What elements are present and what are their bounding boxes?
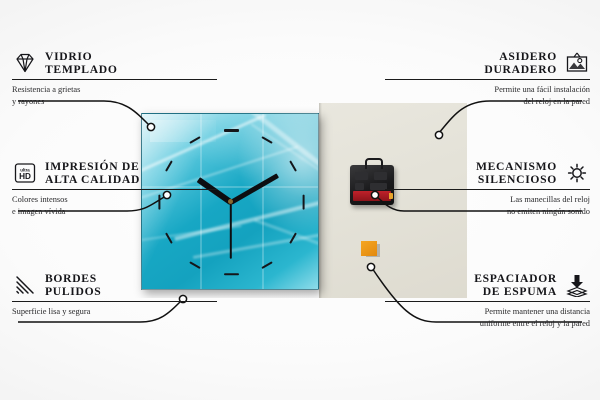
- feature-title-line2: DURADERO: [484, 63, 557, 76]
- feature-bordes-pulidos: BORDES PULIDOS Superficie lisa y segura: [12, 272, 217, 318]
- feature-header: BORDES PULIDOS: [12, 272, 217, 298]
- feature-desc-line2: uniforme entre el reloj y la pared: [385, 318, 590, 330]
- feature-header: ASIDERO DURADERO: [385, 50, 590, 76]
- glass-watermark: [150, 120, 216, 142]
- picture-frame-hanger-icon: [564, 51, 590, 75]
- feature-description: Resistencia a grietas y rayones: [12, 84, 217, 108]
- feature-impresion-alta-calidad: ultra HD IMPRESIÓN DE ALTA CALIDAD Color…: [12, 160, 217, 218]
- clock-tick: [224, 273, 239, 275]
- feature-desc-line2: no emiten ningún sonido: [385, 206, 590, 218]
- feature-header: VIDRIO TEMPLADO: [12, 50, 217, 76]
- feature-divider: [385, 301, 590, 302]
- feature-title-line1: MECANISMO: [476, 160, 557, 173]
- feature-header: ESPACIADOR DE ESPUMA: [385, 272, 590, 298]
- feature-divider: [385, 189, 590, 190]
- feature-desc-line1: Permite mantener una distancia: [385, 306, 590, 318]
- feature-title-line1: ASIDERO: [484, 50, 557, 63]
- feature-desc-line2: y rayones: [12, 96, 217, 108]
- mechanism-slot: [355, 172, 368, 180]
- clock-second-hand: [230, 202, 232, 258]
- feature-title-line2: SILENCIOSO: [476, 173, 557, 186]
- feature-title-line1: VIDRIO: [45, 50, 118, 63]
- feature-title-line2: DE ESPUMA: [474, 285, 557, 298]
- feature-mecanismo-silencioso: MECANISMO SILENCIOSO Las manecillas del …: [385, 160, 590, 218]
- feature-divider: [12, 189, 217, 190]
- feature-titles: MECANISMO SILENCIOSO: [476, 160, 557, 186]
- feature-title-line1: BORDES: [45, 272, 101, 285]
- feature-divider: [12, 301, 217, 302]
- feature-titles: BORDES PULIDOS: [45, 272, 101, 298]
- feature-asidero-duradero: ASIDERO DURADERO Permite una fácil insta…: [385, 50, 590, 108]
- feature-title-line2: PULIDOS: [45, 285, 101, 298]
- feature-desc-line1: Colores intensos: [12, 194, 217, 206]
- feature-title-line1: IMPRESIÓN DE: [45, 160, 140, 173]
- feature-description: Permite una fácil instalación del reloj …: [385, 84, 590, 108]
- feature-titles: IMPRESIÓN DE ALTA CALIDAD: [45, 160, 140, 186]
- svg-text:HD: HD: [19, 172, 31, 181]
- feature-desc-line1: Superficie lisa y segura: [12, 306, 217, 318]
- clock-tick: [302, 195, 304, 210]
- infographic-canvas: VIDRIO TEMPLADO Resistencia a grietas y …: [0, 0, 600, 400]
- feature-divider: [12, 79, 217, 80]
- feature-desc-line1: Las manecillas del reloj: [385, 194, 590, 206]
- foam-spacer: [361, 241, 377, 256]
- feature-divider: [385, 79, 590, 80]
- clock-tick: [224, 129, 239, 131]
- feature-vidrio-templado: VIDRIO TEMPLADO Resistencia a grietas y …: [12, 50, 217, 108]
- feature-description: Permite mantener una distancia uniforme …: [385, 306, 590, 330]
- gear-icon: [564, 161, 590, 185]
- feature-header: MECANISMO SILENCIOSO: [385, 160, 590, 186]
- feature-titles: ASIDERO DURADERO: [484, 50, 557, 76]
- glass-panel-seam: [262, 114, 264, 289]
- feature-description: Colores intensos e imagen vívida: [12, 194, 217, 218]
- feature-title-line2: TEMPLADO: [45, 63, 118, 76]
- feature-description: Superficie lisa y segura: [12, 306, 217, 318]
- mechanism-hook: [365, 158, 383, 169]
- diamond-icon: [12, 51, 38, 75]
- feature-desc-line2: e imagen vívida: [12, 206, 217, 218]
- feature-title-line1: ESPACIADOR: [474, 272, 557, 285]
- ultra-hd-icon: ultra HD: [12, 161, 38, 185]
- feature-espaciador-de-espuma: ESPACIADOR DE ESPUMA Permite mantener un…: [385, 272, 590, 330]
- feature-title-line2: ALTA CALIDAD: [45, 173, 140, 186]
- feature-description: Las manecillas del reloj no emiten ningú…: [385, 194, 590, 218]
- polished-edges-icon: [12, 273, 38, 297]
- foam-spacer-arrow-icon: [564, 273, 590, 297]
- feature-titles: VIDRIO TEMPLADO: [45, 50, 118, 76]
- feature-desc-line1: Resistencia a grietas: [12, 84, 217, 96]
- feature-titles: ESPACIADOR DE ESPUMA: [474, 272, 557, 298]
- clock-center-cap: [228, 199, 233, 204]
- mechanism-slot: [355, 183, 364, 190]
- feature-desc-line1: Permite una fácil instalación: [385, 84, 590, 96]
- feature-desc-line2: del reloj en la pared: [385, 96, 590, 108]
- feature-header: ultra HD IMPRESIÓN DE ALTA CALIDAD: [12, 160, 217, 186]
